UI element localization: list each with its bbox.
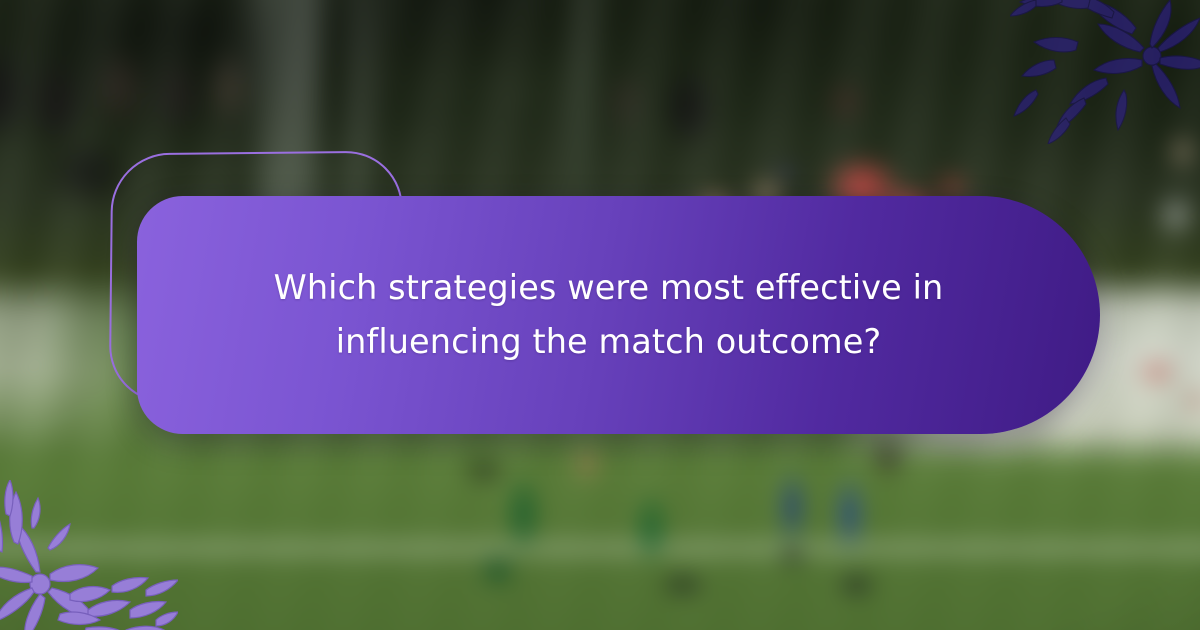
question-card: Which strategies were most effective in … bbox=[137, 196, 1100, 434]
question-text: Which strategies were most effective in … bbox=[259, 261, 959, 370]
question-card-graphic: Which strategies were most effective in … bbox=[0, 0, 1200, 630]
floral-ornament-bottom-left bbox=[0, 480, 178, 630]
floral-ornament-top-right bbox=[1010, 0, 1200, 144]
